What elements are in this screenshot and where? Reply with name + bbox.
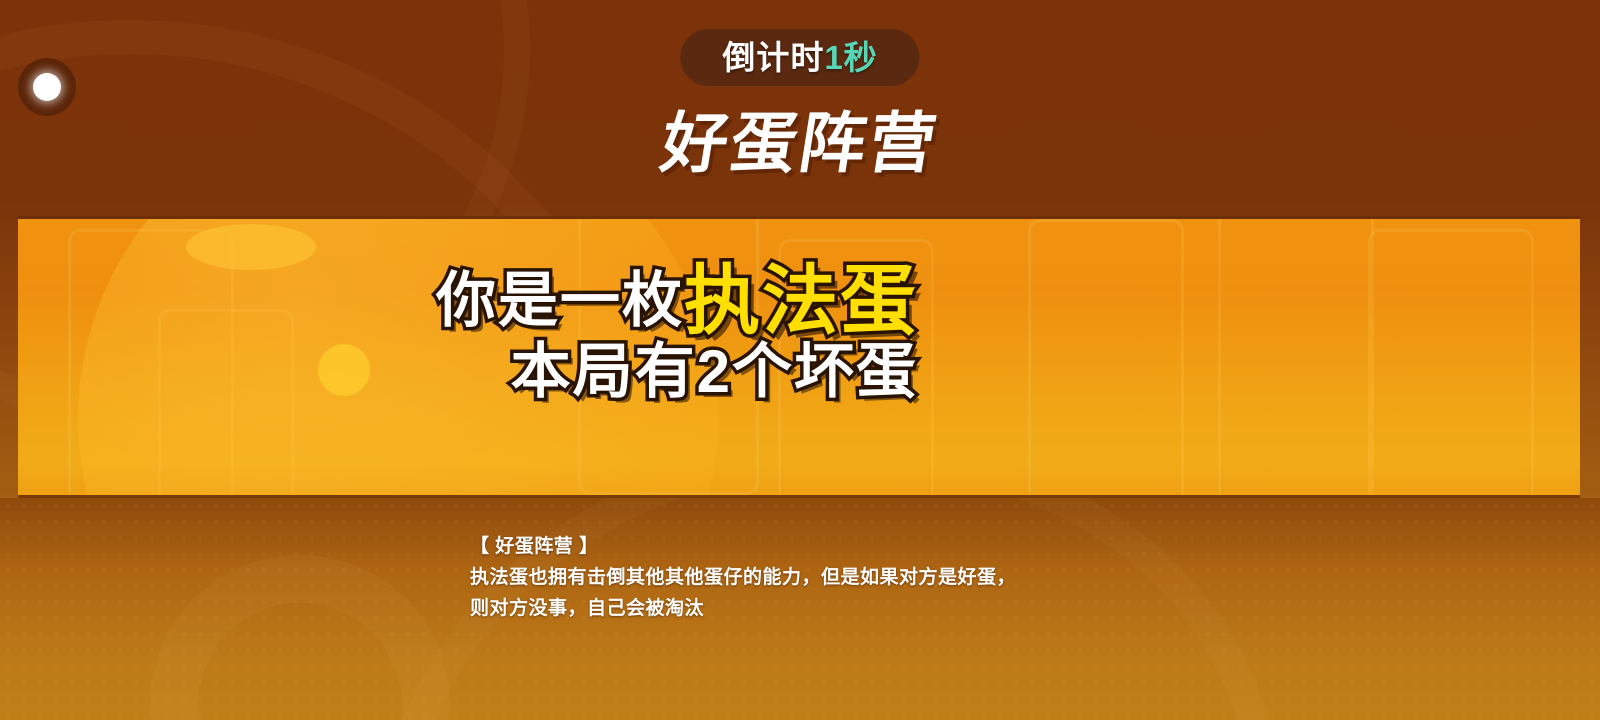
description-line-2: 则对方没事，自己会被淘汰 [470,594,1016,625]
bad-egg-count-text: 本局有2个坏蛋 [511,338,918,405]
role-banner: 你是一枚执法蛋 本局有2个坏蛋 3 云屿的夏 [18,216,1580,498]
banner-outline-shape [1218,219,1374,495]
countdown-label: 倒计时 [722,41,824,74]
description-heading: 【 好蛋阵营 】 [470,532,1016,563]
banner-outline-shape [1028,219,1184,495]
role-name-text: 执法蛋 [684,259,918,344]
corner-glow-icon [18,58,76,116]
countdown-badge: 倒计时 1秒 [680,29,919,86]
description-line-1: 执法蛋也拥有击倒其他其他蛋仔的能力，但是如果对方是好蛋， [470,563,1016,594]
countdown-value: 1秒 [824,41,877,74]
role-prefix-text: 你是一枚 [436,267,684,334]
role-announcement: 你是一枚执法蛋 本局有2个坏蛋 [18,257,918,402]
banner-outline-shape [1368,229,1534,495]
game-role-reveal-screen: 倒计时 1秒 好蛋阵营 你是一枚执法蛋 本局有2个坏蛋 [0,0,1600,720]
role-line-2: 本局有2个坏蛋 [18,341,918,402]
camp-description: 【 好蛋阵营 】 执法蛋也拥有击倒其他其他蛋仔的能力，但是如果对方是好蛋， 则对… [470,532,1016,624]
corner-glow-inner-icon [33,73,61,101]
camp-title: 好蛋阵营 [657,110,943,176]
role-line-1: 你是一枚执法蛋 [18,257,918,335]
